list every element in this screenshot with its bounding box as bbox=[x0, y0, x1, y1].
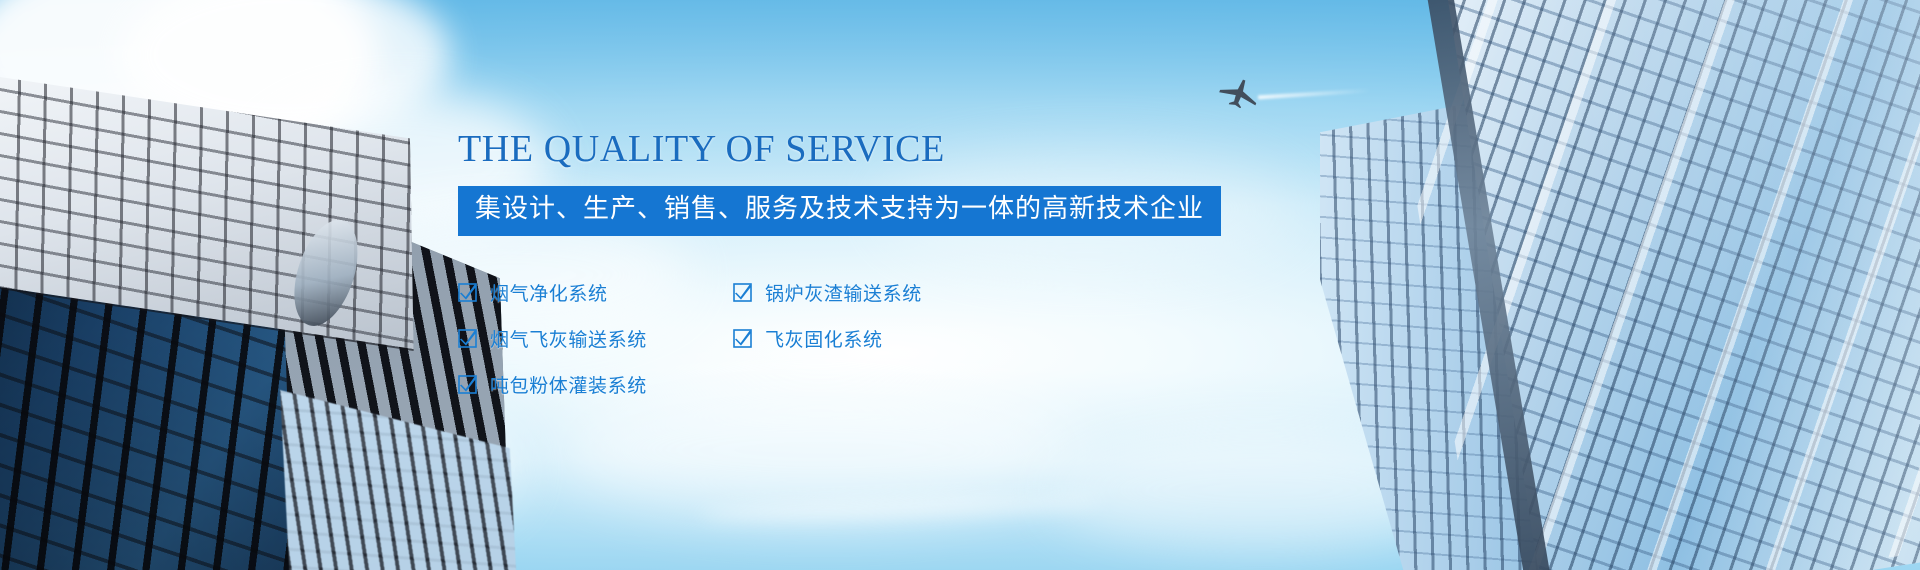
checkbox-checked-icon bbox=[458, 283, 477, 302]
feature-item[interactable]: 吨包粉体灌装系统 bbox=[458, 371, 733, 398]
checkbox-checked-icon bbox=[733, 329, 752, 348]
feature-item[interactable]: 烟气飞灰输送系统 bbox=[458, 325, 733, 352]
hero-banner: THE QUALITY OF SERVICE 集设计、生产、销售、服务及技术支持… bbox=[0, 0, 1920, 570]
checkbox-checked-icon bbox=[733, 283, 752, 302]
english-headline: THE QUALITY OF SERVICE bbox=[458, 130, 1458, 168]
checkbox-checked-icon bbox=[458, 375, 477, 394]
feature-label: 烟气净化系统 bbox=[490, 279, 608, 306]
feature-list: 烟气净化系统 锅炉灰渣输送系统 烟气飞灰输送系统 飞灰固化系统 bbox=[458, 270, 1158, 408]
checkbox-checked-icon bbox=[458, 329, 477, 348]
airplane-icon bbox=[1216, 76, 1262, 108]
feature-item[interactable]: 烟气净化系统 bbox=[458, 279, 733, 306]
feature-label: 吨包粉体灌装系统 bbox=[490, 371, 647, 398]
feature-item[interactable]: 飞灰固化系统 bbox=[733, 325, 1158, 352]
feature-label: 飞灰固化系统 bbox=[765, 325, 883, 352]
feature-label: 烟气飞灰输送系统 bbox=[490, 325, 647, 352]
slogan-bar: 集设计、生产、销售、服务及技术支持为一体的高新技术企业 bbox=[458, 186, 1221, 236]
feature-label: 锅炉灰渣输送系统 bbox=[765, 279, 922, 306]
feature-item[interactable]: 锅炉灰渣输送系统 bbox=[733, 279, 1158, 306]
banner-content: THE QUALITY OF SERVICE 集设计、生产、销售、服务及技术支持… bbox=[458, 130, 1458, 408]
